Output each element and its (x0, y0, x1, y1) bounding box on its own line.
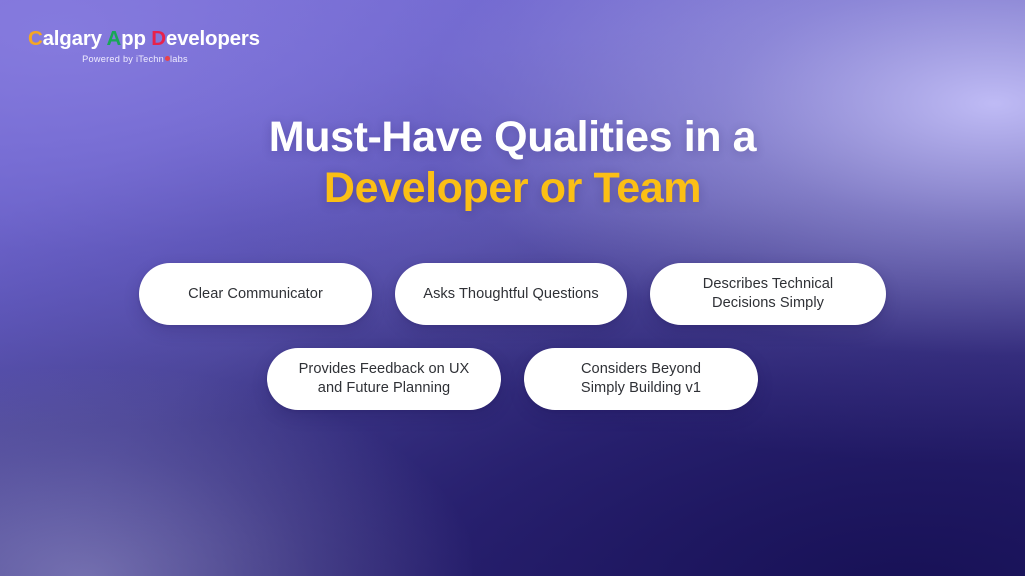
quality-card-considers-beyond-v1[interactable]: Considers Beyond Simply Building v1 (524, 348, 758, 410)
logo-letter-d: D (151, 27, 166, 50)
logo-letter-c: C (28, 27, 43, 50)
quality-card-clear-communicator[interactable]: Clear Communicator (139, 263, 372, 325)
logo-letter-a: A (107, 27, 122, 50)
logo-text-pp: pp (121, 27, 151, 50)
qualities-row-2: Provides Feedback on UX and Future Plann… (0, 348, 1025, 410)
logo-wordmark: Calgary App Developers (28, 28, 242, 50)
qualities-row-1: Clear Communicator Asks Thoughtful Quest… (0, 263, 1025, 325)
qualities-list: Clear Communicator Asks Thoughtful Quest… (0, 263, 1025, 410)
tagline-text-before: Powered by iTechn (82, 54, 164, 64)
quality-card-asks-thoughtful-questions[interactable]: Asks Thoughtful Questions (395, 263, 627, 325)
tagline-dot-icon (165, 56, 170, 61)
brand-logo[interactable]: Calgary App Developers Powered by iTechn… (28, 28, 242, 64)
quality-card-label: Provides Feedback on UX and Future Plann… (299, 360, 470, 397)
logo-text-algary: algary (43, 27, 107, 50)
quality-card-label: Describes Technical Decisions Simply (703, 275, 833, 312)
quality-card-label: Clear Communicator (188, 285, 323, 304)
quality-card-label: Considers Beyond Simply Building v1 (581, 360, 701, 397)
page-title-line-1: Must-Have Qualities in a (0, 112, 1025, 163)
page-title-line-2: Developer or Team (0, 163, 1025, 214)
logo-text-evelopers: evelopers (166, 27, 260, 50)
logo-tagline: Powered by iTechnlabs (28, 54, 242, 64)
quality-card-describes-technical-decisions[interactable]: Describes Technical Decisions Simply (650, 263, 886, 325)
page-title: Must-Have Qualities in a Developer or Te… (0, 112, 1025, 213)
slide-canvas: Calgary App Developers Powered by iTechn… (0, 0, 1025, 576)
tagline-text-after: labs (170, 54, 188, 64)
quality-card-provides-feedback-ux[interactable]: Provides Feedback on UX and Future Plann… (267, 348, 501, 410)
quality-card-label: Asks Thoughtful Questions (423, 285, 598, 304)
